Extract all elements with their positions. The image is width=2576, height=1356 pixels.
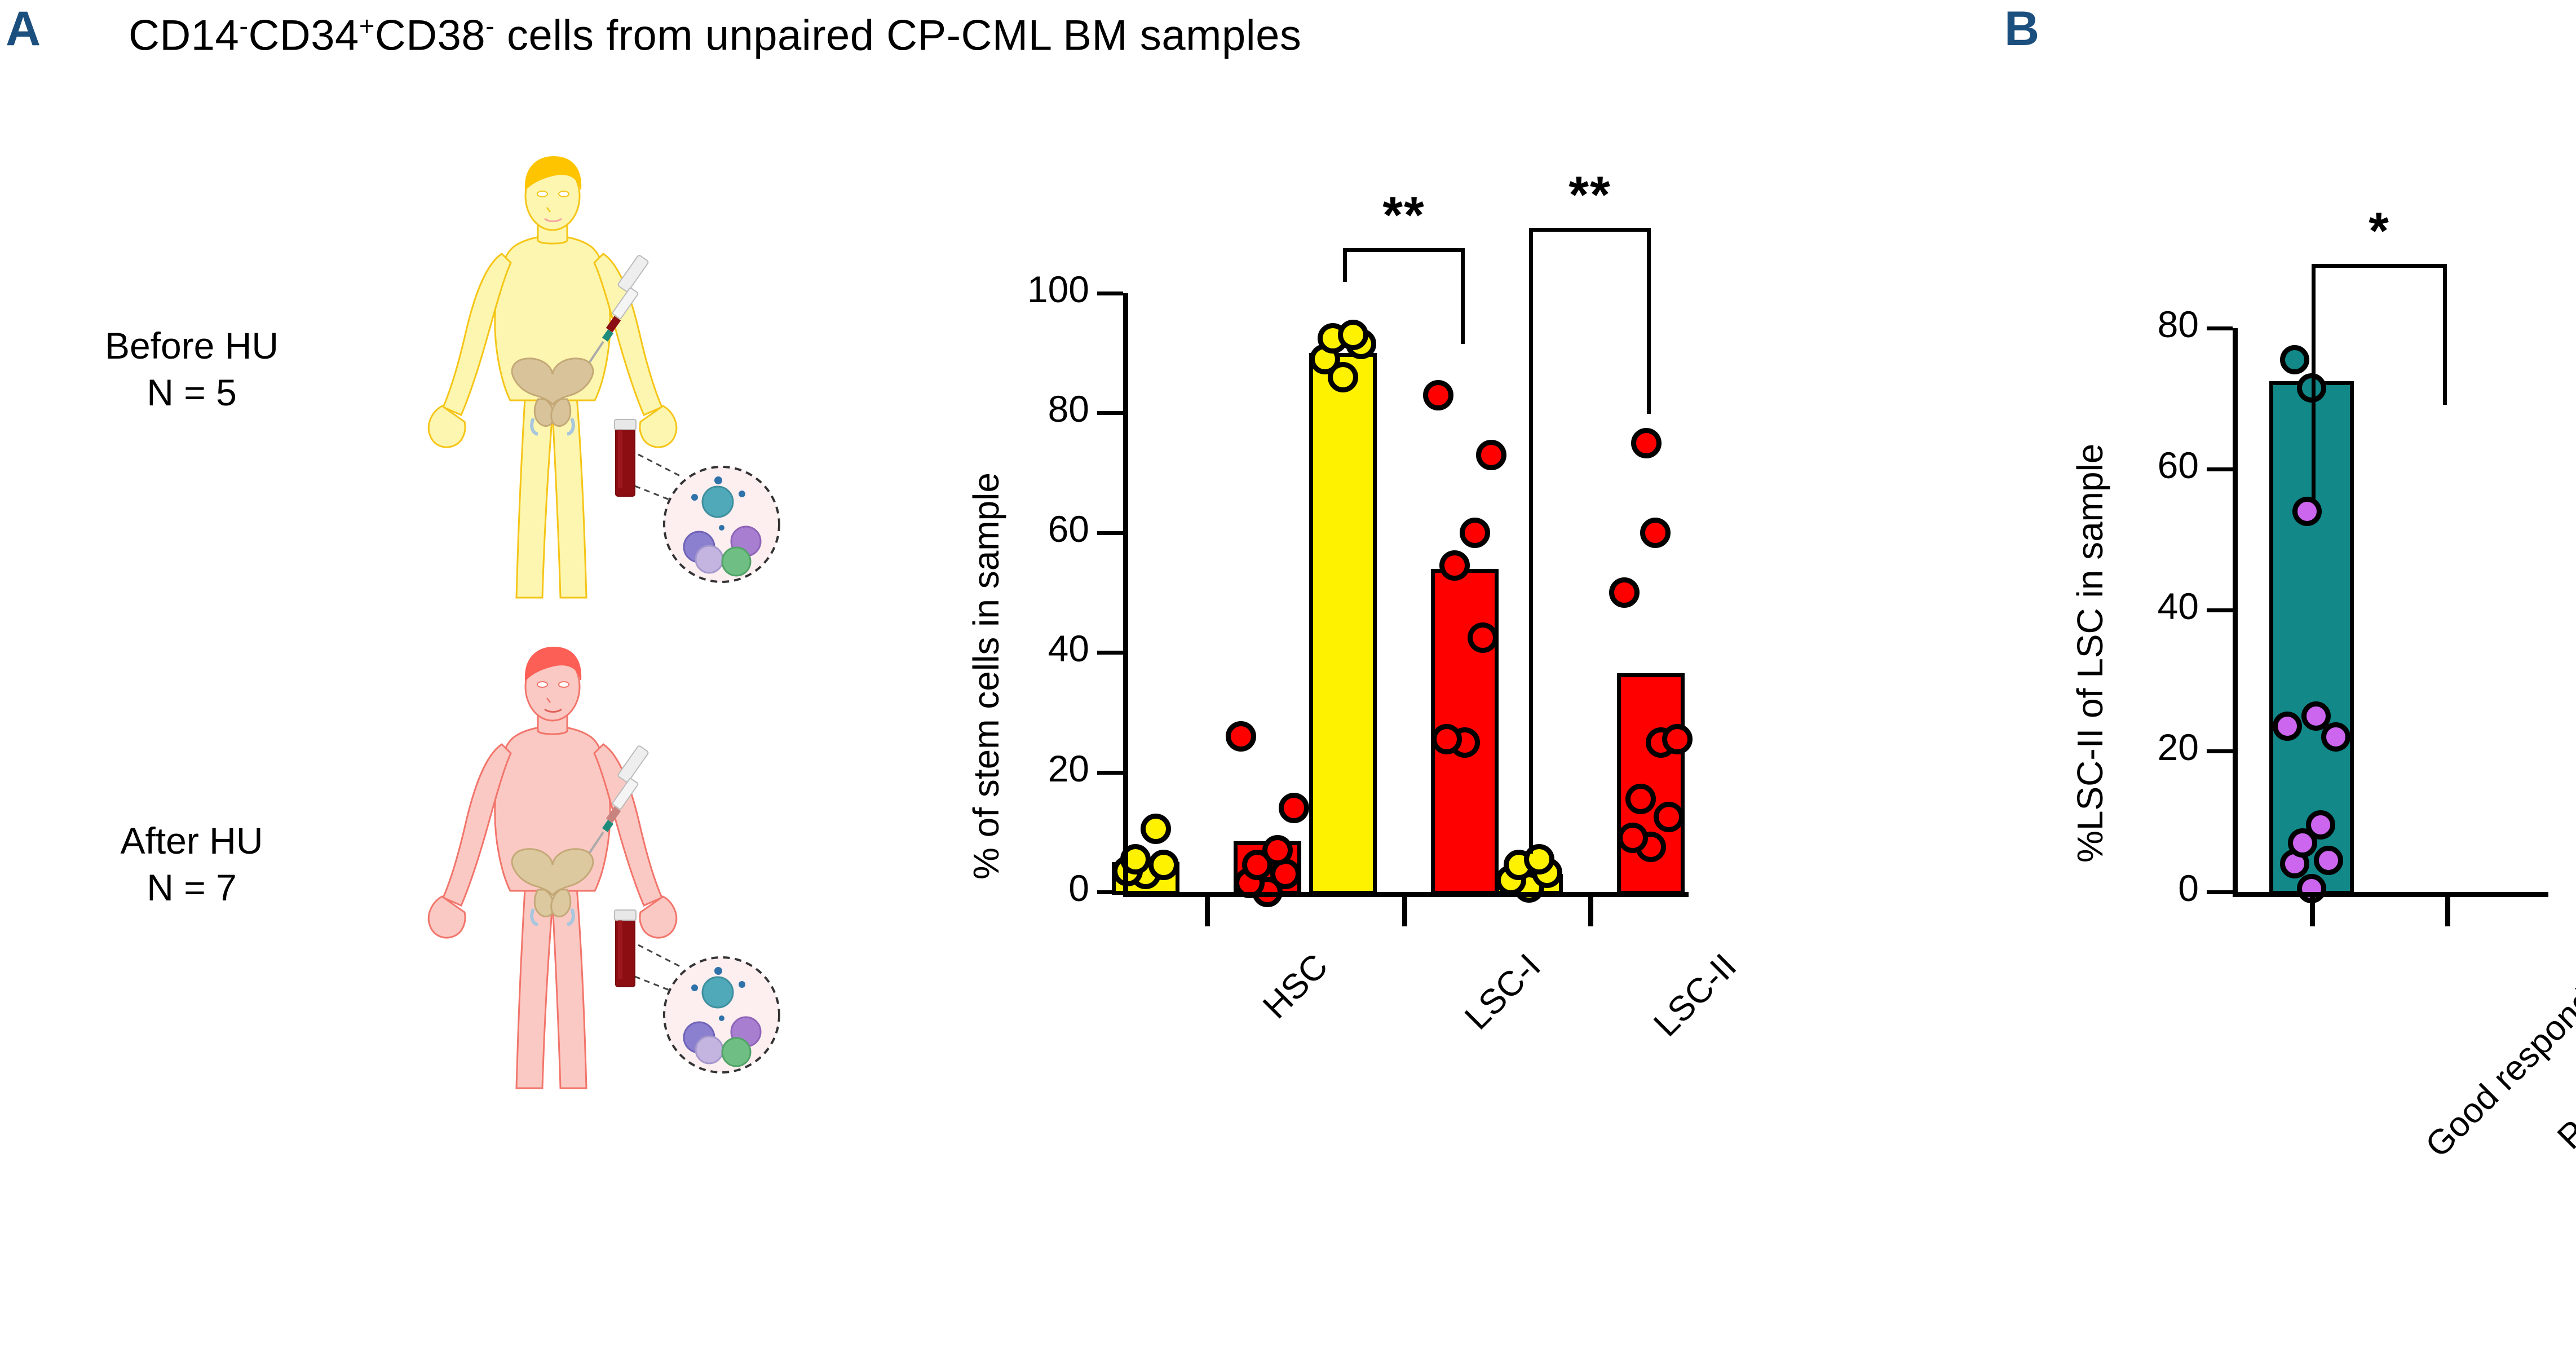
x-tick	[2310, 897, 2315, 926]
data-point	[2273, 712, 2302, 741]
significance-star: **	[1529, 169, 1651, 221]
y-tick	[2207, 749, 2233, 753]
data-point	[1423, 380, 1453, 410]
panel-a-x-axis	[1123, 892, 1689, 897]
y-tick-label: 20	[954, 750, 1089, 787]
data-point	[2301, 701, 2331, 731]
bracket-top-bar	[1343, 248, 1465, 252]
panel-a-chart: % of stem cells in sample 020406080100 H…	[0, 0, 1804, 1356]
data-point	[1141, 814, 1171, 844]
data-point	[1468, 622, 1498, 653]
x-tick-label: Good responders	[2418, 946, 2576, 1165]
data-point	[2292, 497, 2322, 526]
bar	[1309, 353, 1377, 895]
x-tick	[1402, 897, 1407, 926]
y-tick-label: 0	[954, 869, 1089, 907]
y-tick-label: 80	[2064, 306, 2199, 343]
bracket-top-bar	[2312, 264, 2447, 268]
x-tick	[2445, 897, 2450, 926]
y-tick-label: 60	[2064, 447, 2199, 484]
bracket-left-leg	[2312, 264, 2316, 501]
bracket-left-leg	[1529, 228, 1533, 854]
x-tick	[1205, 897, 1210, 926]
y-tick	[2207, 467, 2233, 471]
data-point	[1226, 721, 1256, 752]
y-tick	[1097, 651, 1123, 655]
significance-star: *	[2312, 205, 2447, 257]
x-tick-label: HSC	[1255, 946, 1336, 1027]
panel-b-y-axis	[2233, 328, 2238, 897]
y-tick-label: 80	[954, 390, 1089, 427]
bracket-top-bar	[1529, 228, 1651, 232]
y-tick	[2207, 608, 2233, 612]
data-point	[1431, 724, 1462, 754]
data-point	[2314, 846, 2343, 875]
y-tick-label: 20	[2064, 728, 2199, 766]
y-tick	[1097, 771, 1123, 775]
y-tick	[1097, 291, 1123, 295]
x-tick	[1588, 897, 1593, 926]
bracket-left-leg	[1343, 248, 1347, 282]
data-point	[1262, 835, 1293, 865]
y-tick-label: 100	[954, 271, 1089, 308]
data-point	[1662, 724, 1693, 754]
panel-b-chart: %LSC-II of LSC in sample 020406080 Good …	[1917, 0, 2576, 1356]
x-tick-label: LSC-II	[1646, 946, 1744, 1044]
y-tick-label: 40	[2064, 588, 2199, 625]
significance-bracket	[1529, 228, 1651, 854]
bracket-right-leg	[1461, 248, 1465, 344]
significance-star: **	[1343, 189, 1465, 241]
y-tick-label: 60	[954, 510, 1089, 547]
y-tick	[1097, 531, 1123, 535]
bracket-right-leg	[1647, 228, 1651, 414]
data-point	[2280, 345, 2309, 374]
significance-bracket	[1343, 248, 1465, 344]
significance-bracket	[2312, 264, 2447, 501]
data-point	[1279, 793, 1309, 823]
x-tick-label: LSC-I	[1457, 946, 1548, 1037]
y-tick	[1097, 411, 1123, 415]
data-point	[1476, 440, 1506, 470]
data-point	[1460, 518, 1490, 548]
y-tick	[2207, 326, 2233, 330]
y-tick-label: 0	[2064, 869, 2199, 907]
panel-a-y-axis	[1123, 293, 1128, 897]
panel-b-x-axis	[2233, 892, 2548, 897]
y-tick	[2207, 890, 2233, 894]
panel-b-y-axis-label: %LSC-II of LSC in sample	[2069, 444, 2111, 863]
bracket-right-leg	[2443, 264, 2447, 405]
y-tick-label: 40	[954, 630, 1089, 667]
